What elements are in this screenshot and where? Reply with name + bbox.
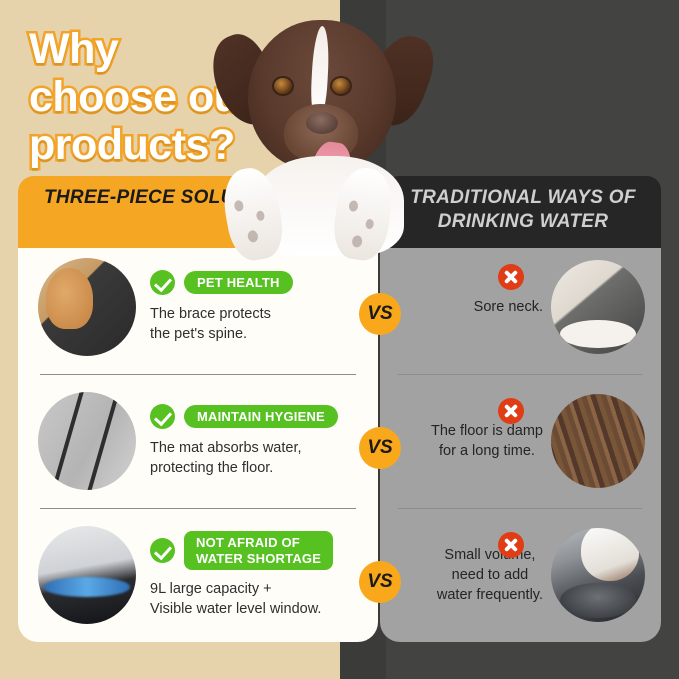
drawback-photo-2 [551, 394, 645, 488]
right-column-header-title: TRADITIONAL WAYS OF DRINKING WATER [395, 186, 651, 235]
page-title-line-1: Why [29, 28, 349, 72]
left-column-header: THREE-PIECE SOLUTION [18, 176, 380, 248]
drawbacks-card: Sore neck. The floor is damp for a long … [380, 240, 661, 642]
vs-badge-2: VS [359, 427, 401, 469]
vs-badge-1: VS [359, 293, 401, 335]
benefit-photo-1 [38, 258, 136, 356]
benefit-description-3: 9L large capacity + Visible water level … [150, 579, 333, 619]
drawback-photo-3 [551, 528, 645, 622]
benefit-description-1: The brace protects the pet's spine. [150, 304, 293, 344]
benefit-row-3: NOT AFRAID OF WATER SHORTAGE 9L large ca… [18, 508, 378, 642]
benefit-text-3: NOT AFRAID OF WATER SHORTAGE 9L large ca… [136, 531, 333, 620]
page-title-line-3: products? [29, 124, 349, 168]
drawback-row-3: Small volume, need to add water frequent… [380, 508, 661, 642]
vs-badge-3: VS [359, 561, 401, 603]
x-circle-icon [498, 532, 524, 558]
benefit-photo-2 [38, 392, 136, 490]
check-circle-icon [150, 404, 175, 429]
benefit-photo-3 [38, 526, 136, 624]
drawback-description-1: Sore neck. [474, 297, 551, 317]
benefit-text-1: PET HEALTH The brace protects the pet's … [136, 270, 293, 344]
infographic-root: Why choose our products? THREE-PIECE SOL… [0, 0, 679, 679]
drawback-row-2: The floor is damp for a long time. [380, 374, 661, 508]
page-title-line-2: choose our [29, 76, 349, 120]
benefit-badge-1: PET HEALTH [184, 271, 293, 295]
right-column-header: TRADITIONAL WAYS OF DRINKING WATER [385, 176, 661, 248]
benefit-badge-3: NOT AFRAID OF WATER SHORTAGE [184, 531, 333, 571]
benefit-badge-wrap-3: NOT AFRAID OF WATER SHORTAGE [150, 531, 333, 571]
left-column-header-title: THREE-PIECE SOLUTION [44, 186, 380, 210]
benefit-badge-2: MAINTAIN HYGIENE [184, 405, 338, 429]
benefit-badge-wrap-1: PET HEALTH [150, 270, 293, 295]
x-circle-icon [498, 398, 524, 424]
check-circle-icon [150, 538, 175, 563]
benefit-description-2: The mat absorbs water, protecting the fl… [150, 438, 338, 478]
x-circle-icon [498, 264, 524, 290]
page-title: Why choose our products? [29, 28, 349, 172]
check-circle-icon [150, 270, 175, 295]
benefit-row-1: PET HEALTH The brace protects the pet's … [18, 240, 378, 374]
benefit-badge-wrap-2: MAINTAIN HYGIENE [150, 404, 338, 429]
drawback-row-1: Sore neck. [380, 240, 661, 374]
drawback-description-3: Small volume, need to add water frequent… [437, 545, 551, 606]
drawback-description-2: The floor is damp for a long time. [431, 421, 551, 462]
benefit-text-2: MAINTAIN HYGIENE The mat absorbs water, … [136, 404, 338, 478]
benefit-row-2: MAINTAIN HYGIENE The mat absorbs water, … [18, 374, 378, 508]
benefits-card: PET HEALTH The brace protects the pet's … [18, 240, 378, 642]
drawback-photo-1 [551, 260, 645, 354]
